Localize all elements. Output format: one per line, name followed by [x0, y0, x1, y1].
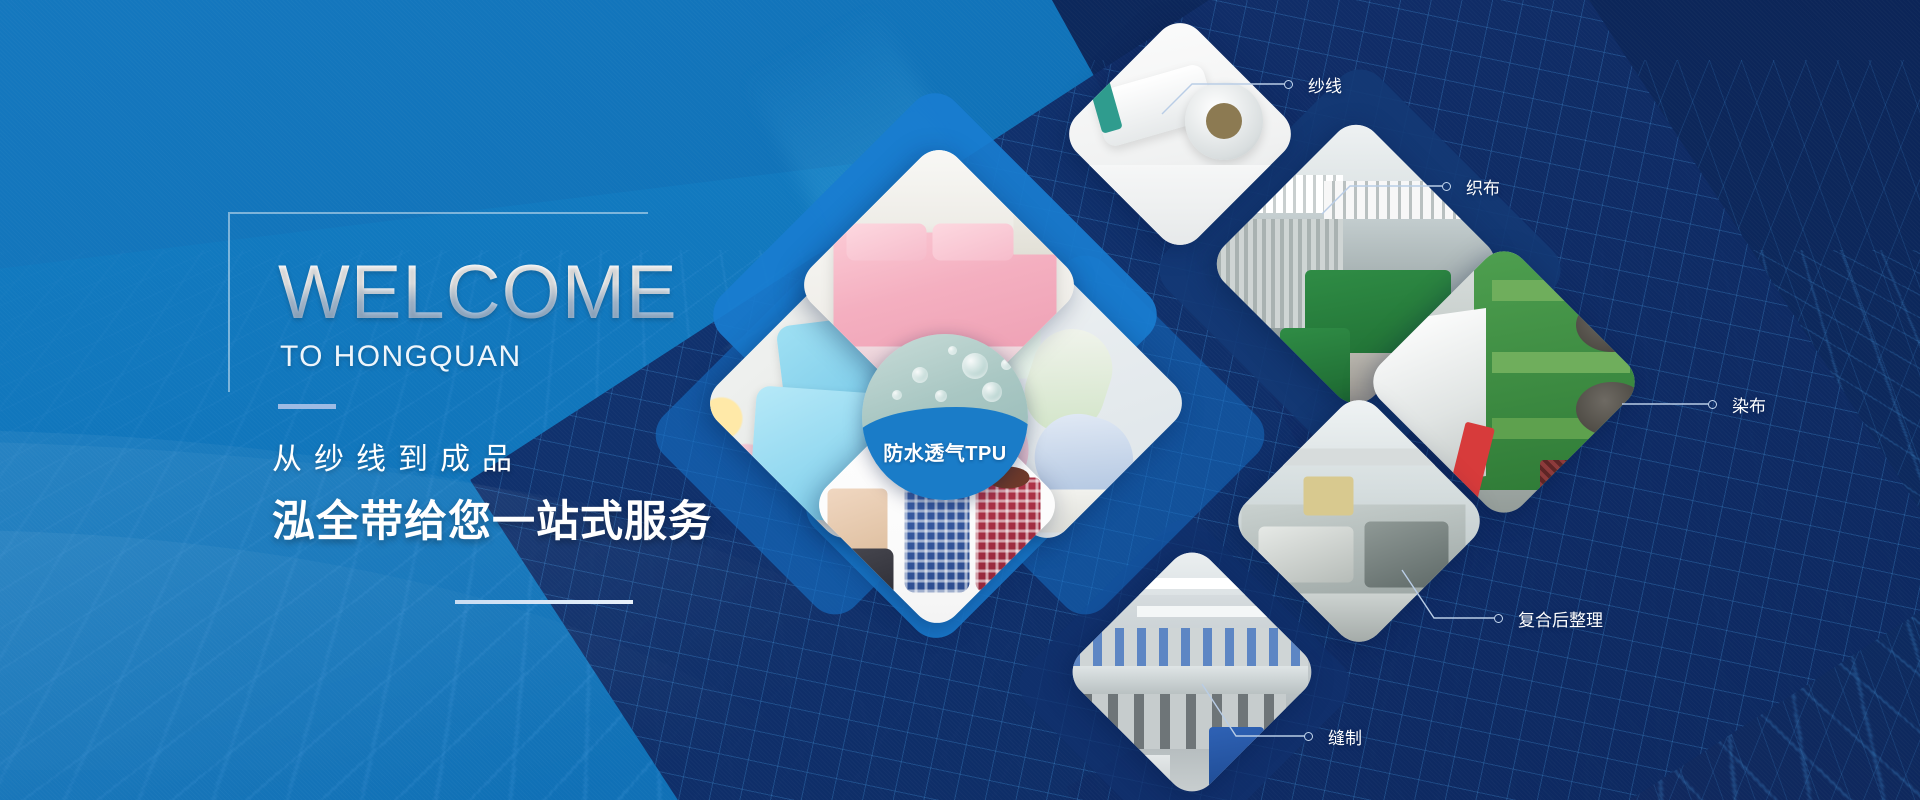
callout-label-sewing: 缝制	[1328, 724, 1362, 749]
water-droplet-icon	[962, 353, 988, 379]
page-title: WELCOME	[278, 255, 678, 331]
callout-label-dyeing: 染布	[1732, 392, 1766, 417]
water-droplet-icon	[982, 382, 1002, 402]
callout-label-yarn: 纱线	[1308, 72, 1342, 97]
accent-rule-short	[278, 404, 336, 409]
callout-label-lamination: 复合后整理	[1518, 606, 1603, 631]
water-droplet-icon	[1001, 359, 1012, 370]
accent-rule-long	[455, 600, 633, 604]
headline-chinese: 泓全带给您一站式服务	[272, 487, 712, 549]
water-droplet-icon	[892, 390, 902, 400]
tagline-chinese: 从纱线到成品	[272, 434, 524, 478]
callout-dot	[1284, 80, 1293, 89]
hero-copy-block: WELCOME TO HONGQUAN 从纱线到成品 泓全带给您一站式服务	[0, 0, 780, 800]
callout-dot	[1708, 400, 1717, 409]
callout-dot	[1442, 182, 1451, 191]
callout-dot	[1494, 614, 1503, 623]
callout-leader-line	[1160, 60, 1320, 120]
water-droplet-icon	[948, 346, 957, 355]
callout-dot	[1304, 732, 1313, 741]
water-droplet-icon	[912, 367, 928, 383]
callout-label-weaving: 织布	[1466, 174, 1500, 199]
page-subtitle: TO HONGQUAN	[280, 340, 522, 374]
badge-label: 防水透气TPU	[862, 437, 1028, 466]
hero-banner: WELCOME TO HONGQUAN 从纱线到成品 泓全带给您一站式服务	[0, 0, 1920, 800]
callout-leader-line	[1320, 158, 1480, 218]
water-droplet-icon	[935, 390, 947, 402]
feature-badge-tpu[interactable]: 防水透气TPU	[862, 334, 1028, 500]
